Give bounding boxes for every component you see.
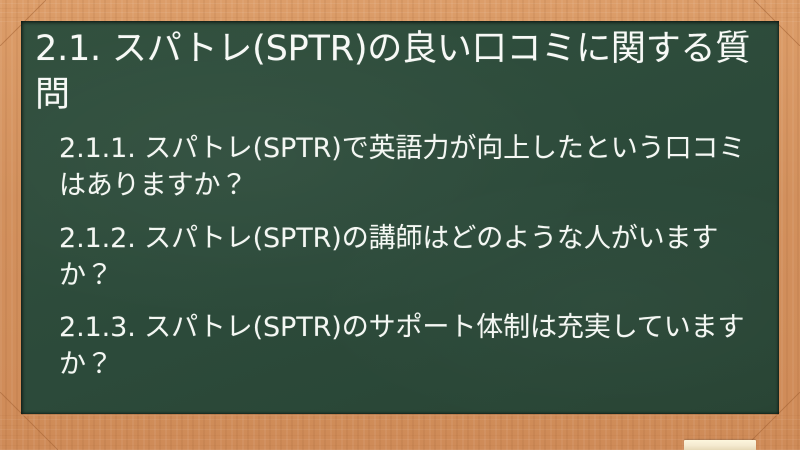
chalk-ledge-lip [21, 414, 779, 416]
chalkboard-text-block: 2.1. スパトレ(SPTR)の良い口コミに関する質問 2.1.1. スパトレ(… [21, 21, 779, 384]
page-title: 2.1. スパトレ(SPTR)の良い口コミに関する質問 [35, 27, 761, 118]
question-list: 2.1.1. スパトレ(SPTR)で英語力が向上したという口コミはありますか？ … [35, 130, 761, 384]
chalkboard-surface: 2.1. スパトレ(SPTR)の良い口コミに関する質問 2.1.1. スパトレ(… [21, 21, 779, 414]
list-item: 2.1.2. スパトレ(SPTR)の講師はどのような人がいますか？ [59, 220, 761, 295]
list-item: 2.1.3. スパトレ(SPTR)のサポート体制は充実していますか？ [59, 309, 761, 384]
chalk-stick-icon [684, 440, 756, 450]
frame-bottom-wood-grain [0, 415, 800, 450]
frame-top-wood-grain [0, 0, 800, 22]
list-item: 2.1.1. スパトレ(SPTR)で英語力が向上したという口コミはありますか？ [59, 130, 761, 205]
chalkboard-slide: 2.1. スパトレ(SPTR)の良い口コミに関する質問 2.1.1. スパトレ(… [0, 0, 800, 450]
